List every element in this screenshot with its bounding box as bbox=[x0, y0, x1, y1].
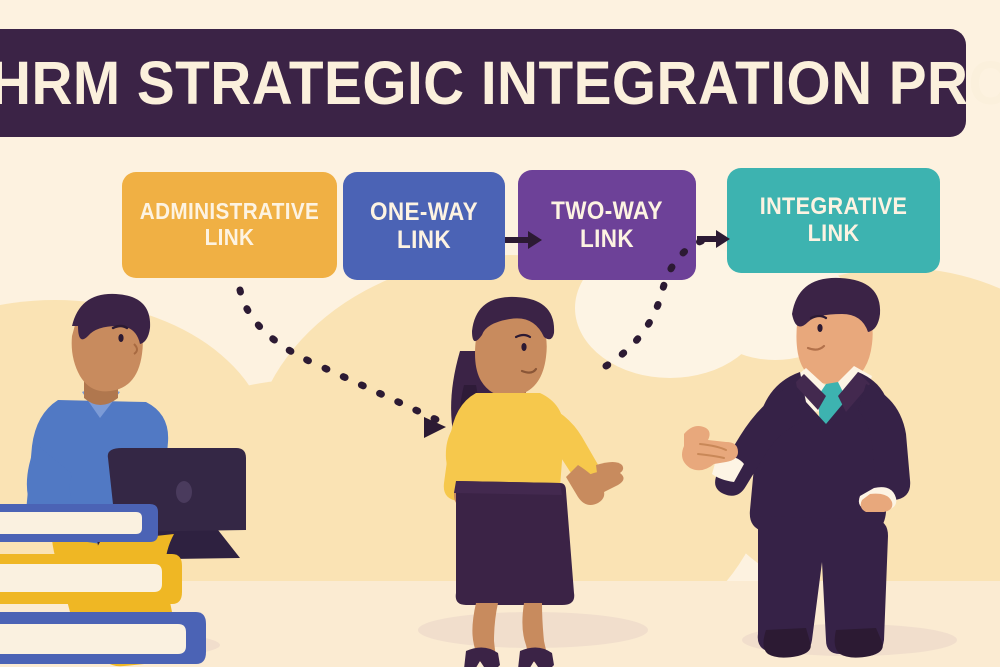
arrow-oneway-to-twoway bbox=[505, 231, 542, 249]
infographic-canvas: HRM STRATEGIC INTEGRATION PROCESS ADMINI… bbox=[0, 0, 1000, 667]
dashed-presenter-to-integrative bbox=[606, 240, 704, 366]
connector-overlay bbox=[0, 0, 1000, 667]
dashed-admin-to-presenter bbox=[240, 290, 450, 438]
